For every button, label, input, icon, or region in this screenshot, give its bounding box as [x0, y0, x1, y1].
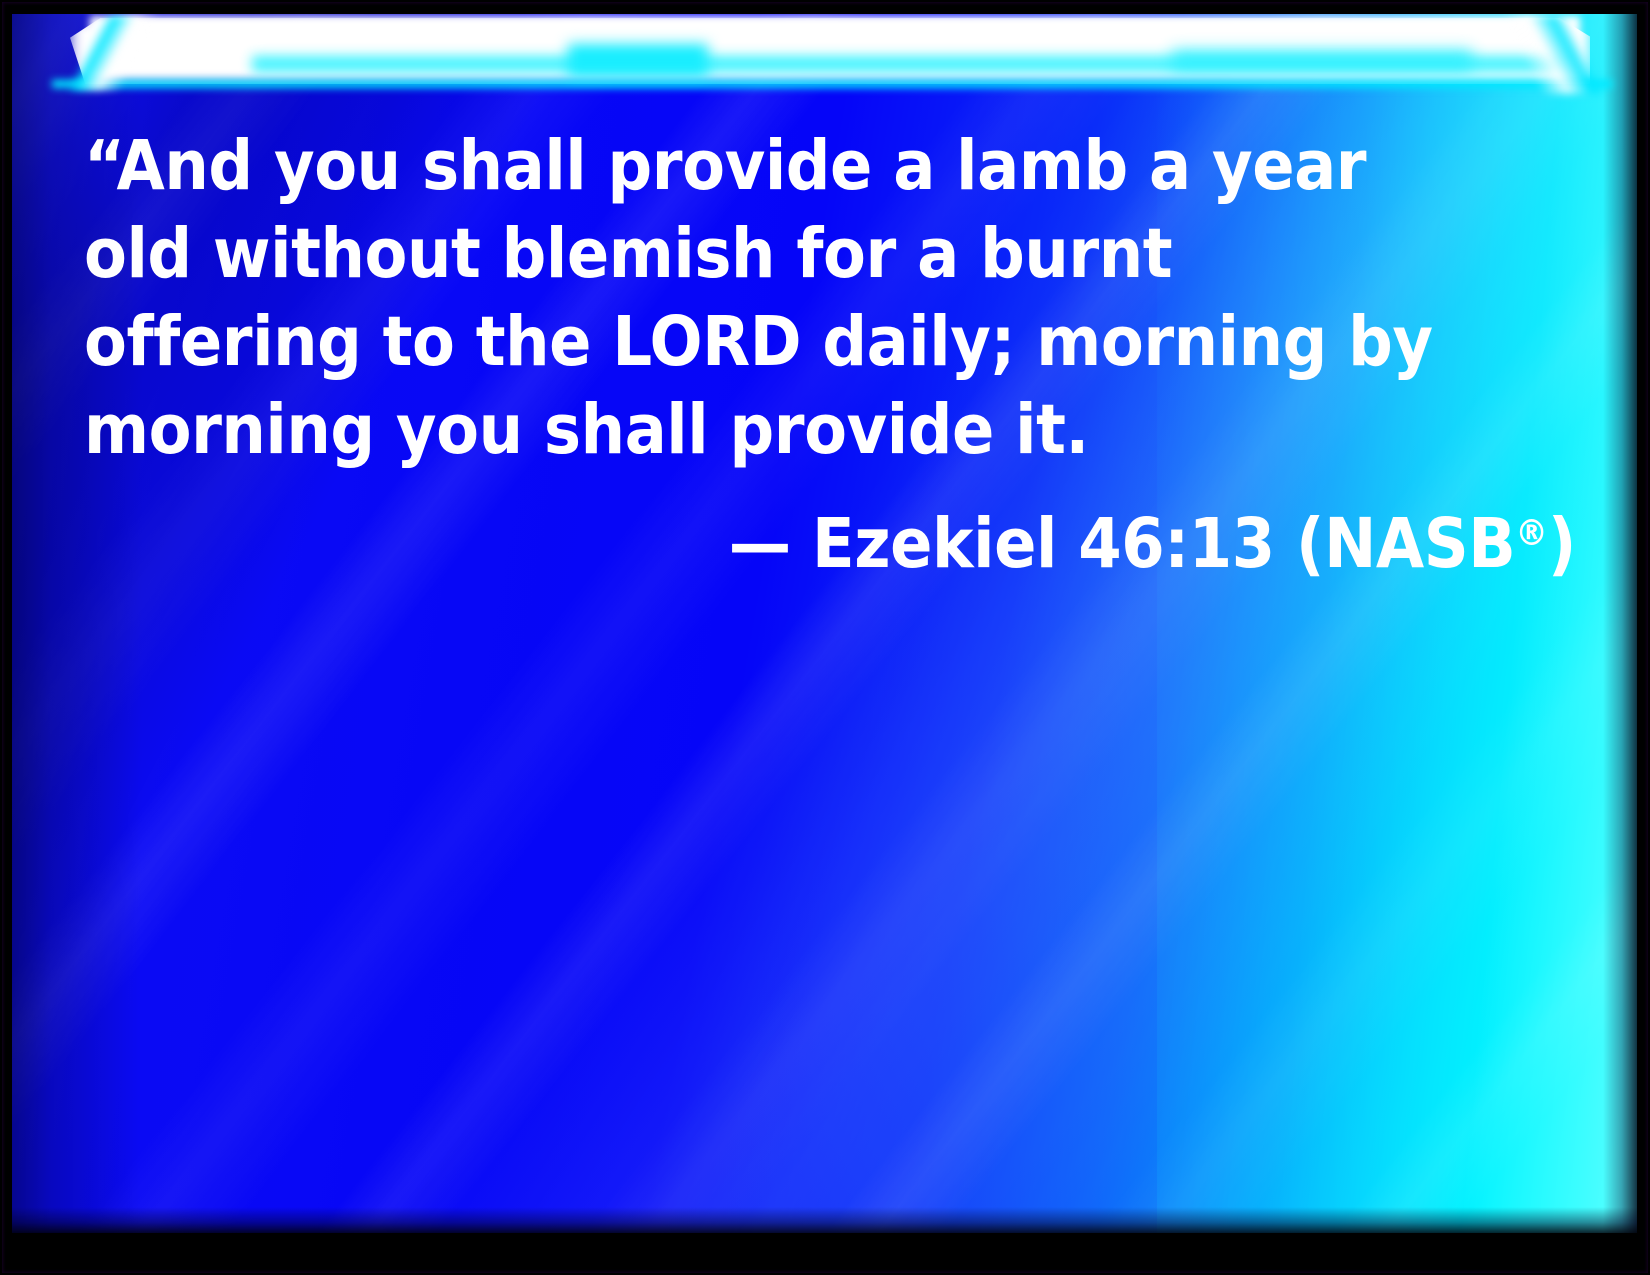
verse-attribution: — Ezekiel 46:13 (NASB®)	[226, 492, 1576, 586]
background-right-vignette	[1603, 14, 1637, 1233]
slide-artwork-panel: “And you shall provide a lamb a year old…	[12, 14, 1637, 1233]
banner-cyan-underline	[52, 80, 1612, 88]
background-bottom-vignette	[12, 1207, 1637, 1233]
attribution-prefix: — Ezekiel 46:13 (NASB	[729, 504, 1516, 584]
attribution-suffix: )	[1548, 504, 1576, 584]
banner-left-wedge	[38, 16, 168, 90]
verse-slide: “And you shall provide a lamb a year old…	[0, 0, 1650, 1275]
banner-cyan-highlight-left	[568, 44, 708, 76]
banner-cyan-highlight-right	[1172, 50, 1472, 70]
registered-trademark-icon: ®	[1515, 513, 1547, 554]
banner-right-wedge	[1497, 16, 1627, 94]
verse-body-text: “And you shall provide a lamb a year old…	[84, 122, 1434, 474]
verse-text-block: “And you shall provide a lamb a year old…	[84, 122, 1576, 586]
top-glow-banner	[12, 14, 1637, 110]
